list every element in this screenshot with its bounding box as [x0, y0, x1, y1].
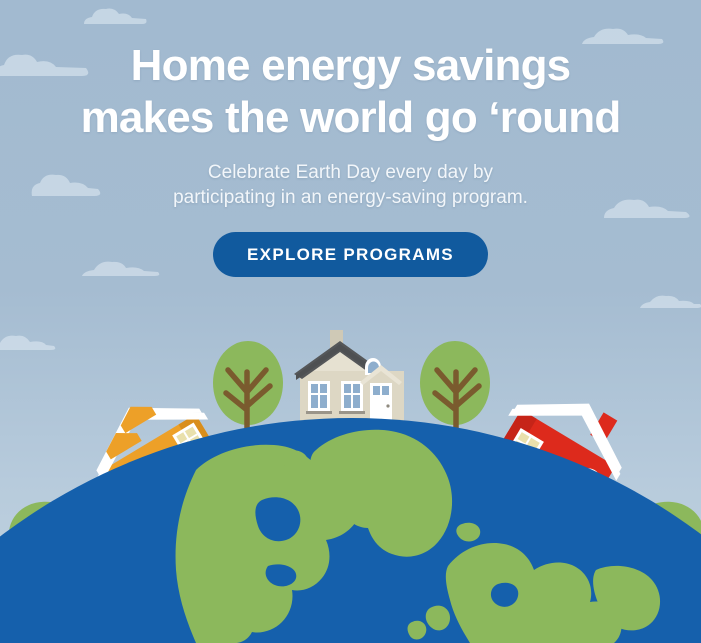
- page-title: Home energy savings makes the world go ‘…: [0, 40, 701, 144]
- headline-line-2: makes the world go ‘round: [81, 93, 621, 142]
- house-center-window-2: [339, 381, 365, 414]
- earth-globe-icon: [0, 418, 701, 643]
- hero-subheading: Celebrate Earth Day every day by partici…: [0, 160, 701, 210]
- hero-copy: Home energy savings makes the world go ‘…: [0, 0, 701, 277]
- headline-line-1: Home energy savings: [131, 41, 571, 90]
- hero-banner: Home energy savings makes the world go ‘…: [0, 0, 701, 643]
- house-center-window-1: [306, 381, 332, 414]
- house-center-icon: [294, 330, 404, 424]
- explore-programs-button[interactable]: EXPLORE PROGRAMS: [213, 232, 488, 277]
- house-center-door: [370, 383, 392, 424]
- subhead-line-2: participating in an energy-saving progra…: [173, 187, 528, 208]
- subhead-line-1: Celebrate Earth Day every day by: [208, 162, 493, 183]
- cta-wrapper: EXPLORE PROGRAMS: [0, 232, 701, 277]
